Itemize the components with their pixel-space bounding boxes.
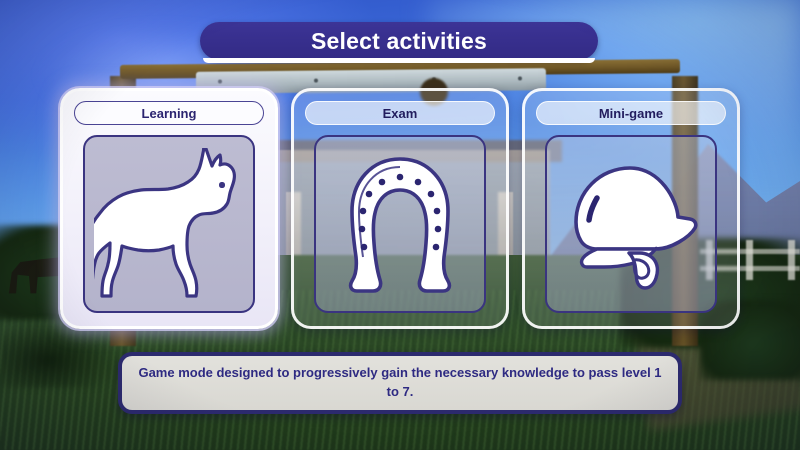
activity-label-exam: Exam xyxy=(305,101,495,125)
activity-icon-panel-learning xyxy=(83,135,255,313)
page-title-bar: Select activities xyxy=(200,22,598,60)
riding-helmet-icon xyxy=(556,154,706,294)
title-underline xyxy=(203,58,595,63)
activity-card-exam[interactable]: Exam xyxy=(291,88,509,329)
horse-icon xyxy=(94,148,244,300)
activity-card-mini-game[interactable]: Mini-game xyxy=(522,88,740,329)
activity-card-list: Learning Exam xyxy=(60,88,740,333)
horseshoe-icon xyxy=(332,153,468,295)
activity-card-learning[interactable]: Learning xyxy=(60,88,278,329)
activity-description-panel: Game mode designed to progressively gain… xyxy=(118,352,682,414)
activity-icon-panel-mini-game xyxy=(545,135,717,313)
activity-icon-panel-exam xyxy=(314,135,486,313)
activity-label-learning: Learning xyxy=(74,101,264,125)
page-title: Select activities xyxy=(311,28,487,55)
game-screen: Select activities Learning Exam xyxy=(0,0,800,450)
activity-label-mini-game: Mini-game xyxy=(536,101,726,125)
activity-description-text: Game mode designed to progressively gain… xyxy=(138,364,662,402)
